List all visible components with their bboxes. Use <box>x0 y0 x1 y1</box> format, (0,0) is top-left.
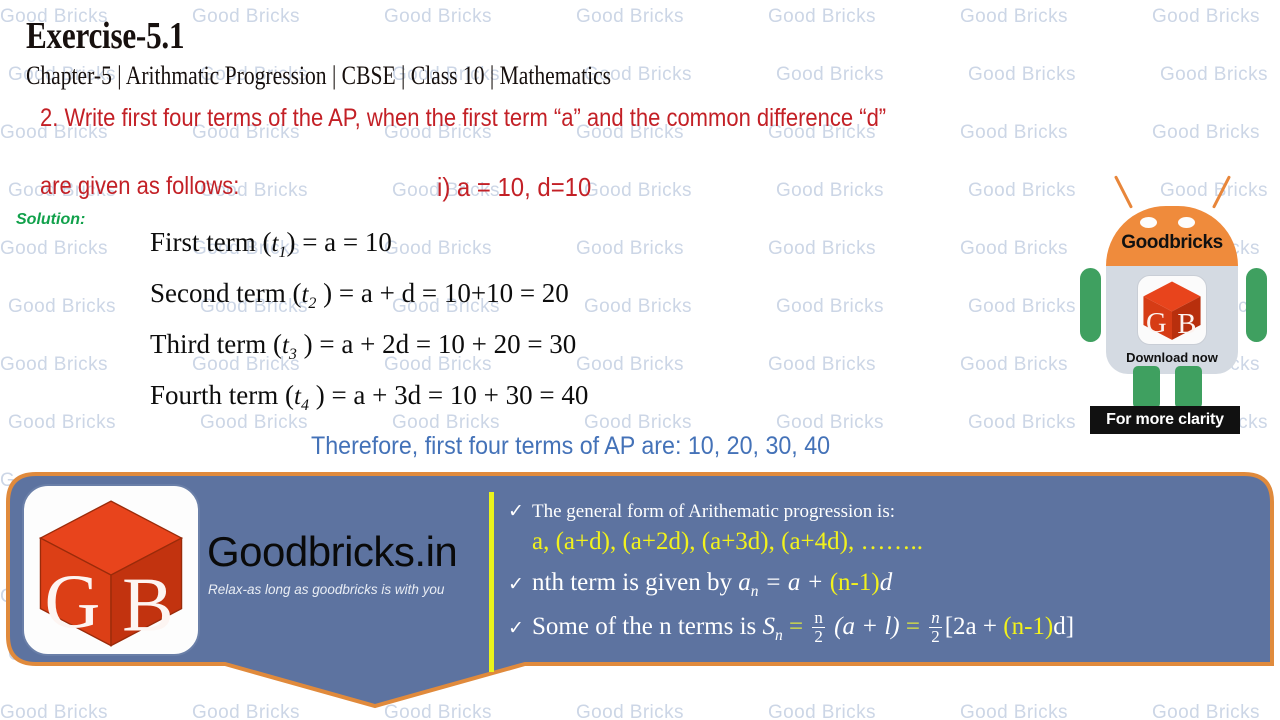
sum-bracket-close: d] <box>1053 613 1074 640</box>
question-line-2: are given as follows: <box>40 172 239 201</box>
vertical-divider <box>489 492 494 672</box>
for-more-clarity-banner: For more clarity <box>1090 406 1240 434</box>
gb-cube-small-icon: G B <box>1138 276 1206 344</box>
nth-term-eq: = a + <box>765 569 824 596</box>
step-name: Second term <box>150 278 286 308</box>
svg-text:B: B <box>1177 309 1196 340</box>
nth-term-suffix: d <box>880 569 893 596</box>
mascot-eye-right <box>1178 217 1195 228</box>
solution-step-4: Fourth term (t4 ) = a + 3d = 10 + 30 = 4… <box>150 380 588 415</box>
solution-step-3: Third term (t3 ) = a + 2d = 10 + 20 = 30 <box>150 329 576 364</box>
svg-text:B: B <box>122 561 174 647</box>
check-icon: ✓ <box>508 500 532 523</box>
solution-step-2: Second term (t2 ) = a + d = 10+10 = 20 <box>150 278 569 313</box>
svg-text:G: G <box>1146 308 1167 339</box>
solution-label: Solution: <box>16 211 85 229</box>
question-line-1: 2. Write first four terms of the AP, whe… <box>40 104 886 133</box>
brand-tagline: Relax-as long as goodbricks is with you <box>208 582 444 597</box>
gb-cube-logo-icon: G B <box>24 486 198 654</box>
step-expression: = a + 2d = 10 + 20 = 30 <box>319 329 576 359</box>
nth-term-highlight: (n-1) <box>830 569 880 596</box>
download-now-label: Download now <box>1106 350 1238 365</box>
mascot-arm-left <box>1080 268 1101 342</box>
step-name: Third term <box>150 329 266 359</box>
android-mascot: Goodbricks G B Download now For more cla… <box>1078 168 1278 450</box>
check-icon: ✓ <box>508 617 532 640</box>
step-name: First term <box>150 227 256 257</box>
footer-bullet-2: ✓nth term is given by an = a + (n-1)d <box>508 569 892 601</box>
footer-bullet-3: ✓Some of the n terms is Sn = n 2 (a + l)… <box>508 610 1074 647</box>
sum-bracket-open: [2a + <box>945 613 997 640</box>
question-case-label: i) a = 10, d=10 <box>437 172 591 203</box>
footer-bullet-1-line-1: ✓The general form of Arithematic progres… <box>508 500 895 523</box>
fraction-n-over-2-first: n 2 <box>812 609 825 646</box>
sum-variable: Sn <box>763 613 783 640</box>
nth-term-label: nth term is given by <box>532 569 732 596</box>
nth-term-variable: an <box>738 569 758 596</box>
solution-conclusion: Therefore, first four terms of AP are: 1… <box>311 432 830 461</box>
page-subtitle: Chapter-5 | Arithmatic Progression | CBS… <box>26 61 611 91</box>
mascot-eye-left <box>1140 217 1157 228</box>
mascot-arm-right <box>1246 268 1267 342</box>
svg-text:G: G <box>44 558 100 644</box>
step-variable: t3 <box>282 332 297 359</box>
mascot-leg-right <box>1175 366 1202 410</box>
step-name: Fourth term <box>150 380 278 410</box>
step-variable: t2 <box>301 281 316 308</box>
app-icon-tile[interactable]: G B <box>1137 275 1207 345</box>
sum-label: Some of the n terms is <box>532 613 756 640</box>
step-expression: = a = 10 <box>302 227 392 257</box>
antenna-right-icon <box>1212 175 1231 208</box>
solution-step-1: First term (t1) = a = 10 <box>150 227 392 262</box>
mascot-head-label: Goodbricks <box>1106 232 1238 254</box>
footer-bullet-1-line-2: a, (a+d), (a+2d), (a+3d), (a+4d), …….. <box>532 528 923 556</box>
brand-name: Goodbricks.in <box>207 528 457 576</box>
step-expression: = a + d = 10+10 = 20 <box>339 278 569 308</box>
mascot-leg-left <box>1133 366 1160 410</box>
bullet-1-text: The general form of Arithematic progress… <box>532 501 895 522</box>
step-variable: t4 <box>294 383 309 410</box>
step-expression: = a + 3d = 10 + 30 = 40 <box>331 380 588 410</box>
step-variable: t1 <box>272 230 287 257</box>
sum-highlight: (n-1) <box>1003 613 1053 640</box>
antenna-left-icon <box>1114 175 1133 208</box>
page-title: Exercise-5.1 <box>26 14 184 58</box>
sum-eq-2: = <box>906 613 920 640</box>
brand-logo-tile[interactable]: G B <box>22 484 200 656</box>
sum-mid-expression: (a + l) <box>834 613 899 640</box>
footer-panel: G B Goodbricks.in Relax-as long as goodb… <box>0 468 1280 720</box>
check-icon: ✓ <box>508 573 532 596</box>
sum-eq-1: = <box>789 613 803 640</box>
general-form-formula: a, (a+d), (a+2d), (a+3d), (a+4d), …….. <box>532 528 923 555</box>
fraction-n-over-2-second: n 2 <box>929 609 942 646</box>
